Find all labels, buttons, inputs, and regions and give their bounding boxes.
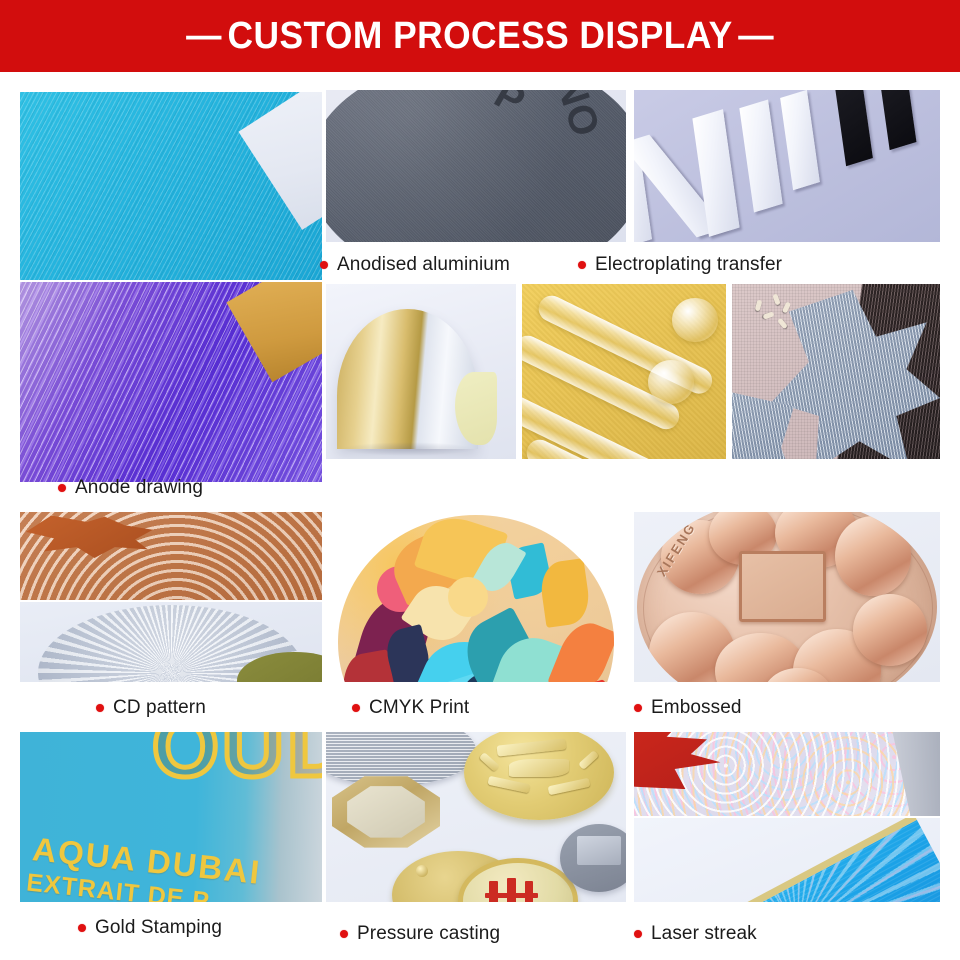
metallic-letter-shape [780,90,820,190]
bullet-dot-icon [578,261,586,269]
coin-relief-mark [548,778,591,795]
gallery-item-anodised-aluminium[interactable]: P NO [326,90,626,242]
gallery-item-embossed[interactable]: XIFENG [634,512,940,682]
copper-figure-shape [26,516,153,571]
panel-edge [892,732,940,816]
caption-label: Anode drawing [75,478,203,497]
thumb-purple-brushed-anodised-sheet[interactable] [20,282,322,482]
bottle-text-oud: OUD [152,732,322,797]
thumb-blue-brushed-anodised-sheet[interactable] [20,92,322,280]
gallery-item-epoxy[interactable] [522,284,726,459]
black-letter-shape [880,90,917,150]
resin-bulb-shape [648,360,694,404]
badge-red-mark [525,881,534,902]
thumb-hatched-engraved-shapes[interactable] [732,284,940,459]
thumb-blue-radial-laser-burst[interactable] [634,818,940,902]
embossed-texture: XIFENG [634,512,940,682]
gold-arch-shape [337,309,478,449]
coin-relief-mark [578,750,599,770]
gold-relief-coin [464,732,614,820]
pressure-casting-texture [326,732,626,902]
caption-label: Gold Stamping [95,918,222,937]
cmyk-texture [326,512,626,682]
coin-relief-mark [497,739,567,758]
caption-cd-pattern: CD pattern [96,698,206,717]
engraved-texture [732,284,940,459]
page-title: —CUSTOM PROCESS DISPLAY— [180,17,779,55]
bullet-dot-icon [58,484,66,492]
coin-relief-mark [488,776,531,793]
bullet-dot-icon [634,704,642,712]
blue-brushed-texture [20,92,322,280]
custom-process-display-page: —CUSTOM PROCESS DISPLAY— Anode drawing P… [0,0,960,960]
page-header-banner: —CUSTOM PROCESS DISPLAY— [0,0,960,72]
medallion-shape: XIFENG [637,512,937,682]
metallic-letter-shape [739,99,782,212]
engraved-speck [755,300,763,312]
caption-laser-streak: Laser streak [634,924,757,943]
thumb-glossy-resin-drops-on-gold[interactable] [522,284,726,459]
engraved-speck [772,293,780,305]
thumb-silver-metallic-letters[interactable] [634,90,940,242]
gallery-item-gold-stamping[interactable]: OUD AQUA DUBAI EXTRAIT DE P [20,732,322,902]
scroll-ornament [853,594,927,666]
bullet-dot-icon [634,930,642,938]
printed-disc-shape [338,515,614,682]
coin-pin [416,865,428,877]
gallery-item-electroplating-transfer[interactable] [634,90,940,242]
title-dash-right: — [733,17,780,55]
caption-anodised-aluminium: Anodised aluminium [320,255,510,274]
electroplating-texture [634,90,940,242]
gallery-item-cd-pattern[interactable] [20,512,322,682]
anodised-texture: P NO [326,90,626,242]
purple-brushed-texture [20,282,322,482]
process-gallery-grid: Anode drawing P NO Anodised aluminium [0,72,960,960]
caption-label: Anodised aluminium [337,255,510,274]
thumb-cast-metal-badges-and-coins[interactable] [326,732,626,902]
thumb-brushed-silver-radial-disc[interactable] [20,602,322,682]
red-printed-pattern [634,732,726,789]
caption-label: CMYK Print [369,698,469,717]
engraved-speck [762,311,774,319]
ivory-tab-shape [455,372,497,446]
thumb-copper-concentric-rings[interactable] [20,512,322,600]
blue-burst-panel [634,818,940,902]
thumb-rose-gold-embossed-medallion[interactable]: XIFENG [634,512,940,682]
cd-rings-texture [20,512,322,600]
caption-anode-drawing: Anode drawing [58,478,203,497]
thumb-colorful-floral-printed-disc[interactable] [326,512,626,682]
thumb-gold-curved-metal-arch[interactable] [326,284,516,459]
floral-petal [448,577,488,617]
title-text: CUSTOM PROCESS DISPLAY [227,15,732,57]
caption-cmyk-print: CMYK Print [352,698,469,717]
cd-disc-texture [20,602,322,682]
gallery-item-arc[interactable] [326,284,516,459]
arc-texture [326,284,516,459]
gold-stamping-texture: OUD AQUA DUBAI EXTRAIT DE P [20,732,322,902]
title-dash-left: — [180,17,227,55]
resin-bulb-shape [672,298,718,342]
caption-label: Electroplating transfer [595,255,782,274]
bullet-dot-icon [78,924,86,932]
black-letter-shape [835,90,873,166]
gallery-item-cmyk-print[interactable] [326,512,626,682]
caption-embossed: Embossed [634,698,742,717]
octagonal-badge [332,776,440,847]
gallery-item-laser-streak[interactable] [634,732,940,902]
caption-label: Laser streak [651,924,757,943]
epoxy-texture [522,284,726,459]
caption-electroplating-transfer: Electroplating transfer [578,255,782,274]
gallery-item-anode-drawing[interactable] [20,92,322,482]
thumb-blue-bottle-with-gold-foil-type[interactable]: OUD AQUA DUBAI EXTRAIT DE P [20,732,322,902]
thumb-holographic-glitter-with-red-pattern[interactable] [634,732,940,816]
caption-pressure-casting: Pressure casting [340,924,500,943]
arch-shadow [341,442,474,456]
caption-label: Embossed [651,698,742,717]
center-plaque [739,551,826,622]
coin-relief-mark [509,759,569,776]
gallery-item-pressure-casting[interactable] [326,732,626,902]
badge-red-mark [507,878,516,902]
laser-burst-texture [634,818,940,902]
caption-label: Pressure casting [357,924,500,943]
badge-red-mark [485,893,538,898]
badge-red-mark [489,881,498,902]
bullet-dot-icon [320,261,328,269]
caption-label: CD pattern [113,698,206,717]
bullet-dot-icon [352,704,360,712]
bullet-dot-icon [340,930,348,938]
holographic-texture [634,732,940,816]
engraved-speck [777,318,788,330]
scroll-ornament [835,516,911,596]
bullet-dot-icon [96,704,104,712]
caption-gold-stamping: Gold Stamping [78,918,222,937]
thumb-dark-matte-anodised-disc[interactable]: P NO [326,90,626,242]
gallery-item-engraved[interactable] [732,284,940,459]
